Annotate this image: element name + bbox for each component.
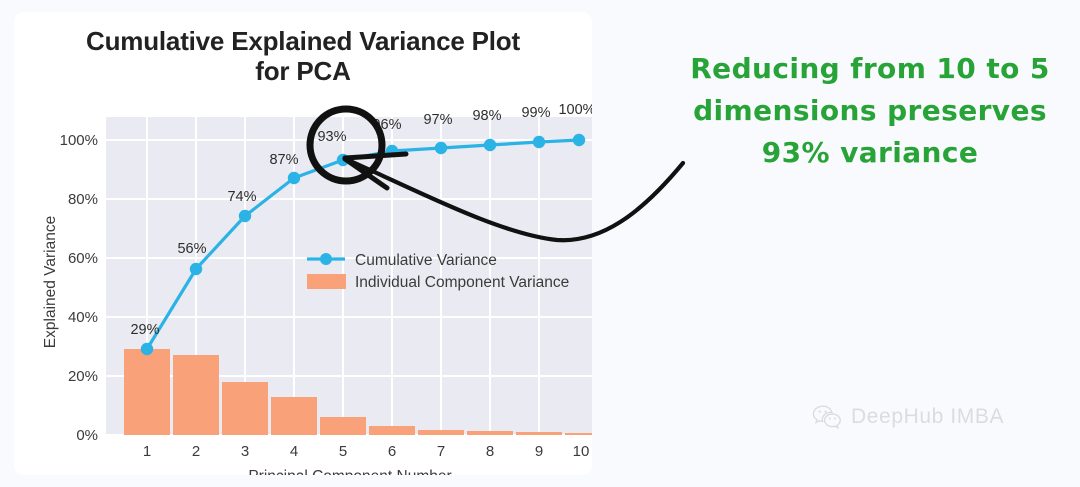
y-tick-20: 20%: [68, 368, 98, 385]
point-10: [573, 134, 585, 146]
y-axis-title: Explained Variance: [42, 216, 59, 348]
y-tick-40: 40%: [68, 309, 98, 326]
bar-4: [271, 397, 317, 435]
point-label-3: 74%: [227, 189, 256, 205]
chart-card: Cumulative Explained Variance Plot for P…: [14, 12, 592, 475]
wechat-icon: [812, 404, 842, 430]
point-label-2: 56%: [177, 241, 206, 257]
y-tick-0: 0%: [76, 427, 98, 444]
x-tick-9: 9: [535, 443, 543, 460]
point-label-1: 29%: [130, 322, 159, 338]
point-label-8: 98%: [472, 108, 501, 124]
point-4: [288, 172, 300, 184]
note-line-1: Reducing from 10 to 5: [668, 48, 1072, 90]
x-tick-8: 8: [486, 443, 494, 460]
point-5: [337, 154, 349, 166]
watermark-text: DeepHub IMBA: [851, 405, 1004, 429]
x-axis-title: Principal Component Number: [248, 468, 451, 475]
point-7: [435, 142, 447, 154]
legend-bar-swatch: [307, 274, 346, 289]
note-line-2: dimensions preserves: [668, 90, 1072, 132]
note-line-3: 93% variance: [668, 132, 1072, 174]
point-label-5: 93%: [317, 129, 346, 145]
legend-label-cumulative: Cumulative Variance: [355, 252, 497, 269]
bar-1: [124, 349, 170, 435]
legend-label-individual: Individual Component Variance: [355, 274, 569, 291]
point-3: [239, 210, 251, 222]
bar-5: [320, 417, 366, 435]
point-9: [533, 136, 545, 148]
x-tick-3: 3: [241, 443, 249, 460]
bar-8: [467, 431, 513, 435]
chart-svg: 0% 20% 40% 60% 80% 100%: [14, 12, 592, 475]
point-6: [386, 145, 398, 157]
y-tick-100: 100%: [60, 132, 98, 149]
point-2: [190, 263, 202, 275]
point-label-4: 87%: [269, 152, 298, 168]
x-tick-4: 4: [290, 443, 298, 460]
point-label-7: 97%: [423, 112, 452, 128]
bar-9: [516, 432, 562, 435]
bar-3: [222, 382, 268, 435]
x-tick-7: 7: [437, 443, 445, 460]
y-tick-60: 60%: [68, 250, 98, 267]
point-label-9: 99%: [521, 105, 550, 121]
y-tick-labels: 0% 20% 40% 60% 80% 100%: [60, 132, 98, 444]
x-tick-2: 2: [192, 443, 200, 460]
x-tick-5: 5: [339, 443, 347, 460]
x-tick-6: 6: [388, 443, 396, 460]
y-tick-80: 80%: [68, 191, 98, 208]
watermark: DeepHub IMBA: [812, 404, 1004, 430]
bar-6: [369, 426, 415, 435]
green-annotation-note: Reducing from 10 to 5 dimensions preserv…: [668, 48, 1072, 174]
point-1: [141, 343, 153, 355]
bar-2: [173, 355, 219, 435]
plot-area: 0% 20% 40% 60% 80% 100%: [14, 12, 592, 475]
bar-7: [418, 430, 464, 435]
legend-dot-swatch: [320, 253, 332, 265]
screenshot-root: Cumulative Explained Variance Plot for P…: [0, 0, 1080, 487]
x-tick-1: 1: [143, 443, 151, 460]
x-tick-labels: 1 2 3 4 5 6 7 8 9 10: [143, 443, 590, 460]
point-8: [484, 139, 496, 151]
x-tick-10: 10: [573, 443, 590, 460]
bar-10: [565, 433, 592, 435]
point-label-10: 100%: [558, 102, 592, 118]
